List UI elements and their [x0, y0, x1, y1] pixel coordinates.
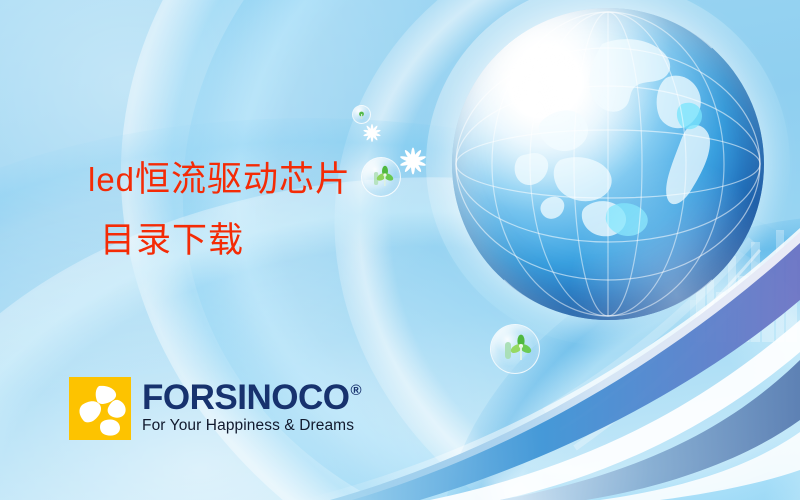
- sparkle-flower-small-icon: [361, 122, 383, 144]
- sparkle-flower-large-icon: [397, 145, 429, 177]
- headline-line-2: 目录下载: [88, 223, 351, 258]
- promo-banner: led恒流驱动芯片 目录下载 FORSINOCO ® For Your Happ…: [0, 0, 800, 500]
- globe-specular-highlight: [452, 8, 764, 320]
- ribbon-white-bottom: [600, 432, 800, 500]
- bubble-medium: [361, 157, 401, 197]
- logo-wordmark-row: FORSINOCO ®: [142, 381, 361, 415]
- bubble-large: [490, 324, 540, 374]
- windmill-icon: [353, 106, 370, 123]
- windmill-icon: [362, 158, 400, 196]
- logo-tagline: For Your Happiness & Dreams: [142, 418, 361, 434]
- logo-wordmark: FORSINOCO: [142, 381, 349, 415]
- bubble-small: [352, 105, 371, 124]
- logo-text-block: FORSINOCO ® For Your Happiness & Dreams: [142, 381, 361, 433]
- company-logo[interactable]: FORSINOCO ® For Your Happiness & Dreams: [69, 377, 361, 440]
- registered-trademark-icon: ®: [350, 383, 361, 398]
- four-petal-pinwheel-icon: [69, 377, 131, 440]
- windmill-icon: [491, 325, 539, 373]
- headline: led恒流驱动芯片 目录下载: [88, 162, 351, 258]
- earth-globe-icon: [452, 8, 764, 320]
- headline-latin: led: [88, 161, 135, 198]
- headline-line-1: led恒流驱动芯片: [88, 162, 351, 197]
- headline-cjk: 恒流驱动芯片: [135, 160, 351, 199]
